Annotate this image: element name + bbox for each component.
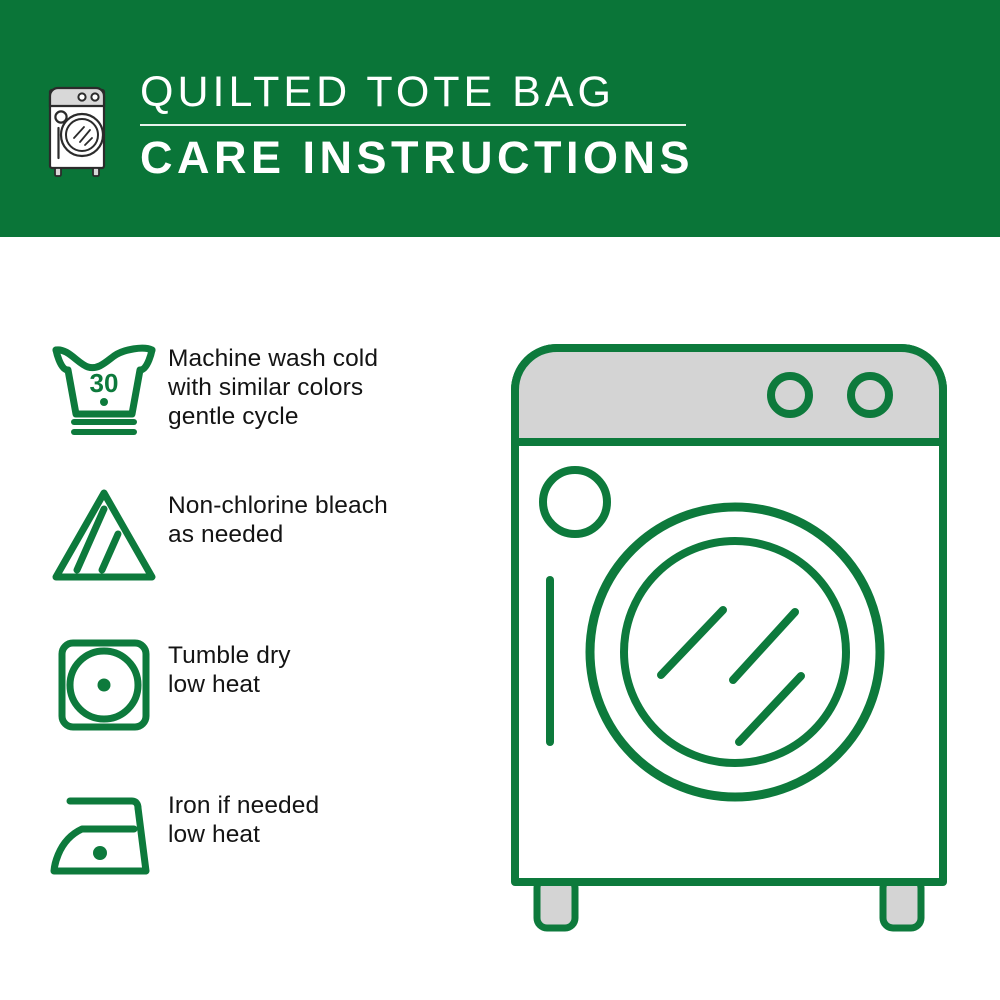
header-banner: QUILTED TOTE BAG CARE INSTRUCTIONS [0,0,1000,237]
care-instructions-infographic: QUILTED TOTE BAG CARE INSTRUCTIONS 30 [0,0,1000,1000]
washing-machine-icon [44,72,116,180]
wash-tub-icon: 30 [48,340,168,436]
care-text-bleach: Non-chlorine bleach as needed [168,487,468,549]
care-text-tumble-dry: Tumble dry low heat [168,637,468,699]
header-title-block: QUILTED TOTE BAG CARE INSTRUCTIONS [140,66,760,185]
page-title-care: CARE INSTRUCTIONS [140,131,760,185]
care-instruction-list: 30 Machine wash cold with similar colors… [0,237,470,1000]
care-row-tumble-dry: Tumble dry low heat [48,637,468,733]
tumble-dry-dot-icon [98,679,111,692]
machine-knob-1 [771,376,809,414]
care-row-wash: 30 Machine wash cold with similar colors… [48,340,468,436]
wash-temperature-label: 30 [90,368,119,398]
iron-dot-icon [93,846,107,860]
washing-machine-illustration [495,330,965,940]
care-line: Tumble dry [168,641,468,670]
care-line: Non-chlorine bleach [168,491,468,520]
care-line: Iron if needed [168,791,468,820]
title-divider [140,124,686,126]
care-line: as needed [168,520,468,549]
care-text-wash: Machine wash cold with similar colors ge… [168,340,468,431]
care-text-iron: Iron if needed low heat [168,787,468,849]
page-title-product: QUILTED TOTE BAG [140,66,760,118]
bleach-triangle-icon [48,487,168,583]
machine-indicator-circle [543,470,607,534]
care-line: low heat [168,820,468,849]
tumble-dry-icon [48,637,168,733]
machine-knob-2 [851,376,889,414]
wash-dot-icon [100,398,108,406]
care-line: with similar colors [168,373,468,402]
care-line: gentle cycle [168,402,468,431]
care-row-bleach: Non-chlorine bleach as needed [48,487,468,583]
care-row-iron: Iron if needed low heat [48,787,468,883]
iron-icon [48,787,168,883]
care-line: low heat [168,670,468,699]
machine-door-inner [624,541,846,763]
care-line: Machine wash cold [168,344,468,373]
